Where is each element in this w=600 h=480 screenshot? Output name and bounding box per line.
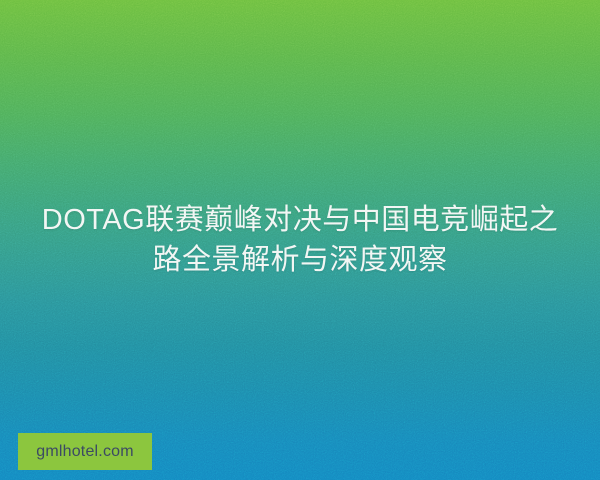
poster-title-line-1: DOTAG联赛巅峰对决与中国电竞崛起之 [26, 200, 574, 240]
poster-canvas: DOTAG联赛巅峰对决与中国电竞崛起之 路全景解析与深度观察 gmlhotel.… [0, 0, 600, 480]
poster-title-line-2: 路全景解析与深度观察 [26, 240, 574, 280]
poster-title: DOTAG联赛巅峰对决与中国电竞崛起之 路全景解析与深度观察 [0, 200, 600, 280]
watermark-badge[interactable]: gmlhotel.com [18, 433, 152, 470]
watermark-label: gmlhotel.com [36, 444, 134, 460]
